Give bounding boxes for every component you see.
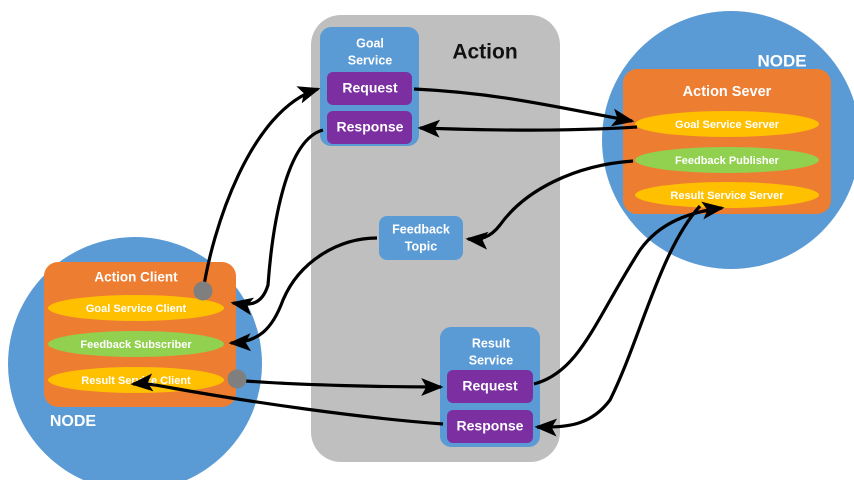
feedback-topic-title-line2: Topic xyxy=(405,239,437,253)
diagram-canvas: Action Action Client Goal Service Client… xyxy=(0,0,854,480)
goal-service-title-line1: Goal xyxy=(356,36,384,50)
goal-service-response-label: Response xyxy=(337,119,404,135)
result-service-server-label: Result Service Server xyxy=(670,190,784,202)
result-service-title-line2: Service xyxy=(469,353,514,367)
action-communication-diagram: Action Action Client Goal Service Client… xyxy=(0,0,854,480)
server-node-group: Action Sever Goal Service Server Feedbac… xyxy=(602,11,854,269)
action-server-label: Action Sever xyxy=(683,84,772,100)
feedback-topic-title-line1: Feedback xyxy=(392,222,450,236)
goal-service-request-label: Request xyxy=(342,80,398,96)
result-service-request-label: Request xyxy=(462,378,518,394)
goal-client-connector-dot xyxy=(194,282,213,301)
arrow-result-server-to-result-response xyxy=(537,206,700,427)
action-client-label: Action Client xyxy=(94,270,178,285)
result-service-response-label: Response xyxy=(457,418,524,434)
result-client-connector-dot xyxy=(228,370,247,389)
goal-service-server-label: Goal Service Server xyxy=(675,119,780,131)
action-panel-label: Action xyxy=(452,41,517,64)
arrow-goal-client-to-goal-request xyxy=(203,89,318,292)
client-node-label: NODE xyxy=(50,413,97,430)
feedback-publisher-label: Feedback Publisher xyxy=(675,155,780,167)
feedback-topic-group: Feedback Topic xyxy=(379,216,463,260)
client-node-group: Action Client Goal Service Client Feedba… xyxy=(8,237,262,480)
goal-service-title-line2: Service xyxy=(348,53,393,67)
goal-service-group: Goal Service Request Response xyxy=(320,27,419,146)
server-node-label: NODE xyxy=(757,51,806,70)
feedback-subscriber-label: Feedback Subscriber xyxy=(80,339,192,351)
result-service-group: Result Service Request Response xyxy=(440,327,540,447)
goal-service-client-label: Goal Service Client xyxy=(86,303,187,315)
result-service-title-line1: Result xyxy=(472,336,511,350)
